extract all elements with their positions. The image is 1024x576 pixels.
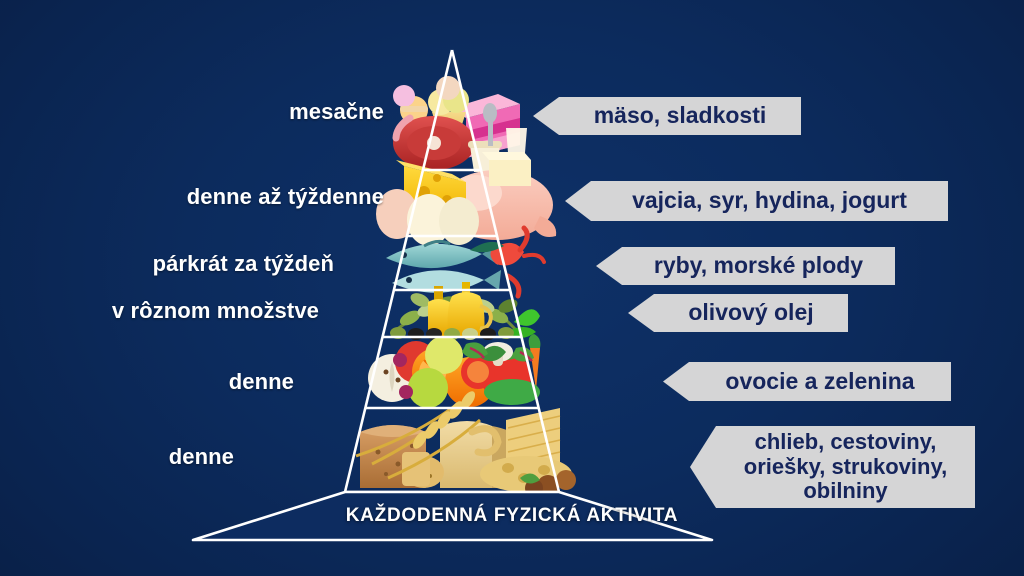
callout-tier2-text: vajcia, syr, hydina, jogurt — [632, 188, 907, 214]
callout-tier4-text: olivový olej — [688, 300, 813, 326]
red-meat-icon — [393, 116, 475, 170]
frequency-label-tier3: párkrát za týždeň — [153, 251, 334, 277]
callout-tier6-line2: oriešky, strukoviny, — [744, 455, 947, 480]
callout-tier5-text: ovocie a zelenina — [725, 369, 914, 395]
frequency-label-tier6: denne — [169, 444, 234, 470]
frequency-label-tier4: v rôznom množstve — [112, 298, 319, 324]
frequency-label-tier2: denne až týždenne — [187, 184, 384, 210]
tier5-foods — [368, 334, 540, 408]
callout-tier3-text: ryby, morské plody — [654, 253, 863, 279]
callout-tier6-line1: chlieb, cestoviny, — [755, 430, 937, 455]
callout-tier2[interactable]: vajcia, syr, hydina, jogurt — [565, 181, 948, 221]
callout-tier1-text: mäso, sladkosti — [594, 103, 767, 129]
mackerel-fish-icon — [392, 270, 501, 293]
green-apple-icon — [408, 368, 448, 408]
callout-tier1[interactable]: mäso, sladkosti — [533, 97, 801, 135]
callout-tier6-line3: obilniny — [803, 479, 887, 504]
callout-tier5[interactable]: ovocie a zelenina — [663, 362, 951, 401]
base-band-label: KAŽDODENNÁ FYZICKÁ AKTIVITA — [346, 505, 678, 527]
frequency-label-tier5: denne — [229, 369, 294, 395]
callout-tier4[interactable]: olivový olej — [628, 294, 848, 332]
food-pyramid-infographic: mesačne denne až týždenne párkrát za týž… — [0, 0, 1024, 576]
tier6-foods — [356, 389, 576, 497]
callout-tier6[interactable]: chlieb, cestoviny, oriešky, strukoviny, … — [690, 426, 975, 508]
frequency-label-tier1: mesačne — [289, 99, 384, 125]
callout-tier3[interactable]: ryby, morské plody — [596, 247, 895, 285]
butter-block-icon — [482, 152, 531, 186]
